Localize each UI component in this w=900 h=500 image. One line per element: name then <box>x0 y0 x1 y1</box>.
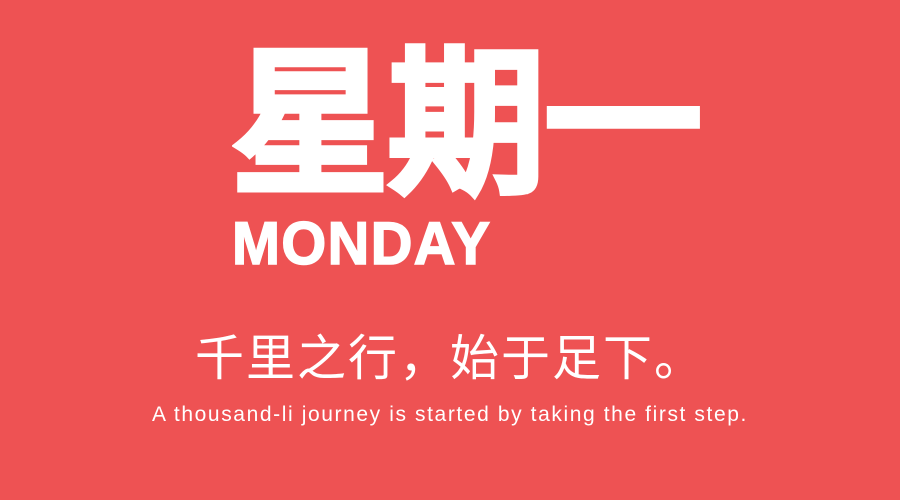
proverb-chinese: 千里之行，始于足下。 <box>0 330 900 388</box>
proverb-block: 千里之行，始于足下。 A thousand-li journey is star… <box>0 330 900 427</box>
proverb-english: A thousand-li journey is started by taki… <box>0 402 900 427</box>
day-name-english: MONDAY <box>232 214 846 274</box>
monday-card: 星期一 MONDAY 千里之行，始于足下。 A thousand-li jour… <box>0 0 900 500</box>
day-heading-block: 星期一 MONDAY <box>232 46 872 274</box>
day-name-chinese: 星期一 <box>232 46 866 204</box>
